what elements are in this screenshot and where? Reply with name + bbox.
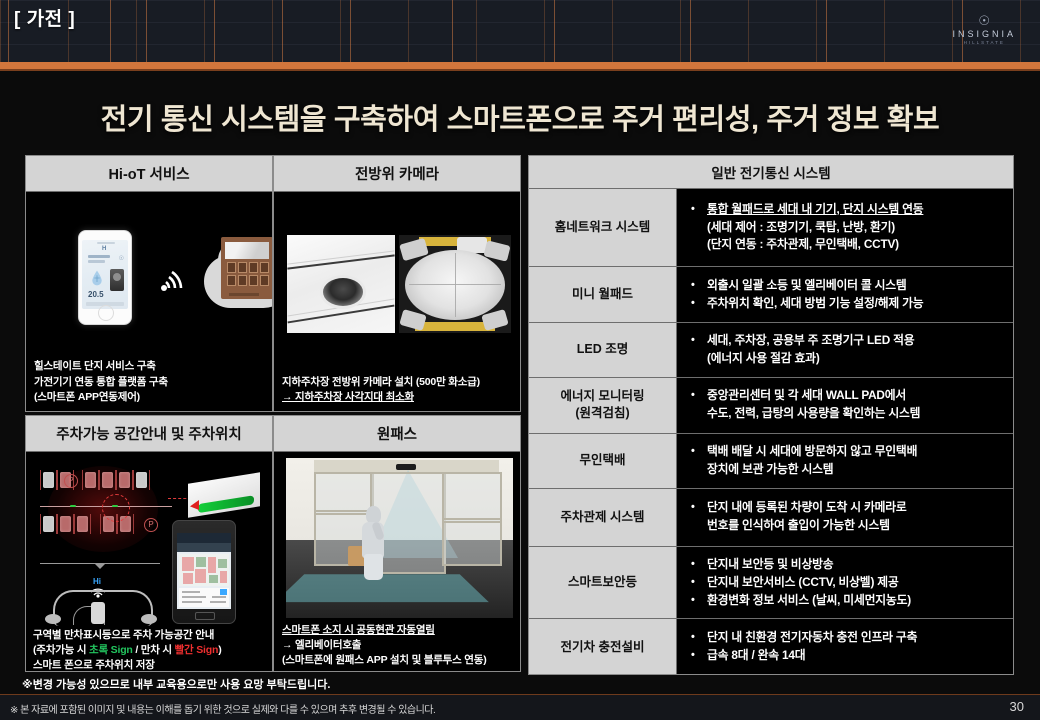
bullet-text-underlined: 통합 월패드로 세대 내 기기, 단지 시스템 연동 xyxy=(707,201,1003,219)
panel-hi-ot: Hi-oT 서비스 H ☉ 20.5 xyxy=(25,155,273,412)
caption-line: 지하주차장 전방위 카메라 설치 (500만 화소급) xyxy=(282,375,480,390)
bullet-icon: • xyxy=(691,277,707,295)
row-category: 홈네트워크 시스템 xyxy=(529,189,677,266)
bullet-icon: • xyxy=(691,647,707,665)
sub-line: 수도, 전력, 급탕의 사용량을 확인하는 시스템 xyxy=(691,405,1003,423)
category-label: [ 가전 ] xyxy=(14,4,75,31)
panel-body-camera: 지하주차장 전방위 카메라 설치 (500만 화소급) → 지하주차장 사각지대… xyxy=(274,192,520,411)
bullet-text: 세대, 주차장, 공용부 주 조명기구 LED 적용 xyxy=(707,332,1003,350)
bullet-icon: • xyxy=(691,629,707,647)
caption-line: 힐스테이트 단지 서비스 구축 xyxy=(34,359,168,374)
bullet-text: 단지내 보안서비스 (CCTV, 비상벨) 제공 xyxy=(707,574,1003,592)
row-description: •통합 월패드로 세대 내 기기, 단지 시스템 연동 (세대 제어 : 조명기… xyxy=(677,189,1013,266)
accent-rule-shadow xyxy=(0,69,1040,71)
auto-door-illustration xyxy=(286,458,513,618)
bullet-icon: • xyxy=(691,332,707,350)
sub-line: 번호를 인식하여 출입이 가능한 시스템 xyxy=(691,517,1003,535)
parking-app-phone xyxy=(172,520,236,624)
page-number: 30 xyxy=(1010,699,1024,714)
logo-subtitle: HILLSTATE xyxy=(952,41,1016,46)
bullet-icon: • xyxy=(691,295,707,313)
top-bar: [ 가전 ] ☉ INSIGNIA HILLSTATE xyxy=(0,0,1040,62)
row-category: 미니 월패드 xyxy=(529,267,677,322)
table-header: 일반 전기통신 시스템 xyxy=(529,156,1013,189)
green-sign-text: 초록 Sign xyxy=(89,644,133,656)
caption-line-colored: (주차가능 시 초록 Sign / 만차 시 빨간 Sign) xyxy=(33,643,221,658)
bullet-icon: • xyxy=(691,499,707,517)
row-description: •단지 내에 등록된 차량이 도착 시 카메라로 번호를 인식하여 출입이 가능… xyxy=(677,489,1013,546)
row-category-sub: (원격검침) xyxy=(575,405,629,422)
bullet-text: 주차위치 확인, 세대 방범 기능 설정/해제 가능 xyxy=(707,295,1003,313)
panel-header-hi-ot: Hi-oT 서비스 xyxy=(26,156,272,192)
bullet-text: 단지내 보안등 및 비상방송 xyxy=(707,556,1003,574)
brand-logo: ☉ INSIGNIA HILLSTATE xyxy=(952,14,1016,46)
table-row: LED 조명 •세대, 주차장, 공용부 주 조명기구 LED 적용 (에너지 … xyxy=(529,323,1013,378)
row-category-main: 에너지 모니터링 xyxy=(561,388,645,405)
bullet-icon: • xyxy=(691,592,707,610)
table-row: 스마트보안등 •단지내 보안등 및 비상방송 •단지내 보안서비스 (CCTV,… xyxy=(529,547,1013,620)
caption-line-underlined: 스마트폰 소지 시 공동현관 자동열림 xyxy=(282,623,487,638)
caption-onepass: 스마트폰 소지 시 공동현관 자동열림 → 엘리베이터호출 (스마트폰에 원패스… xyxy=(282,623,487,669)
row-category: 전기차 충전설비 xyxy=(529,619,677,674)
table-row: 무인택배 •택배 배달 시 세대에 방문하지 않고 무인택배 장치에 보관 가능… xyxy=(529,434,1013,489)
bullet-text: 단지 내에 등록된 차량이 도착 시 카메라로 xyxy=(707,499,1003,517)
table-row: 주차관제 시스템 •단지 내에 등록된 차량이 도착 시 카메라로 번호를 인식… xyxy=(529,489,1013,547)
ceiling-camera-photo xyxy=(287,235,395,333)
sub-line: (에너지 사용 절감 효과) xyxy=(691,350,1003,368)
sub-line: (세대 제어 : 조명기기, 쿡탑, 난방, 환기) xyxy=(691,219,1003,237)
caption-line: → 엘리베이터호출 xyxy=(282,638,487,653)
caption-line: 스마트 폰으로 주차위치 저장 xyxy=(33,658,221,673)
caption-line: (스마트폰에 원패스 APP 설치 및 블루투스 연동) xyxy=(282,653,487,668)
smartphone-illustration: H ☉ 20.5 xyxy=(78,230,132,325)
row-description: •택배 배달 시 세대에 방문하지 않고 무인택배 장치에 보관 가능한 시스템 xyxy=(677,434,1013,488)
panel-header-parking: 주차가능 공간안내 및 주차위치 xyxy=(26,416,272,452)
row-description: •외출시 일괄 소등 및 엘리베이터 콜 시스템 •주차위치 확인, 세대 방범… xyxy=(677,267,1013,322)
bullet-text: 외출시 일괄 소등 및 엘리베이터 콜 시스템 xyxy=(707,277,1003,295)
sub-line: (단지 연동 : 주차관제, 무인택배, CCTV) xyxy=(691,236,1003,254)
sub-line: 장치에 보관 가능한 시스템 xyxy=(691,461,1003,479)
building-icon xyxy=(221,237,272,299)
panel-header-onepass: 원패스 xyxy=(274,416,520,452)
caption-line: 구역별 만차표시등으로 주차 가능공간 안내 xyxy=(33,628,221,643)
topbar-grid-pattern xyxy=(0,0,1040,62)
hi-label: Hi xyxy=(93,577,101,586)
caption-hi-ot: 힐스테이트 단지 서비스 구축 가전기기 연동 통합 플랫폼 구축 (스마트폰 … xyxy=(34,359,168,405)
wifi-signal-icon xyxy=(159,269,185,295)
accent-rule xyxy=(0,62,1040,69)
row-description: •세대, 주차장, 공용부 주 조명기구 LED 적용 (에너지 사용 절감 효… xyxy=(677,323,1013,377)
caption-line: 가전기기 연동 통합 플랫폼 구축 xyxy=(34,375,168,390)
page-title: 전기 통신 시스템을 구축하여 스마트폰으로 주거 편리성, 주거 정보 확보 xyxy=(0,96,1040,138)
bullet-text: 택배 배달 시 세대에 방문하지 않고 무인택배 xyxy=(707,443,1003,461)
panel-header-camera: 전방위 카메라 xyxy=(274,156,520,192)
system-table: 일반 전기통신 시스템 홈네트워크 시스템 •통합 월패드로 세대 내 기기, … xyxy=(528,155,1014,675)
panel-body-hi-ot: H ☉ 20.5 xyxy=(26,192,272,411)
divider-arrow xyxy=(40,563,160,564)
table-row: 미니 월패드 •외출시 일괄 소등 및 엘리베이터 콜 시스템 •주차위치 확인… xyxy=(529,267,1013,323)
table-row: 홈네트워크 시스템 •통합 월패드로 세대 내 기기, 단지 시스템 연동 (세… xyxy=(529,189,1013,267)
fisheye-view-photo xyxy=(399,235,511,333)
row-category: 주차관제 시스템 xyxy=(529,489,677,546)
row-description: •단지 내 친환경 전기자동차 충전 인프라 구축 •급속 8대 / 완속 14… xyxy=(677,619,1013,674)
humidity-drop-icon xyxy=(90,270,104,286)
parking-map-illustration: P P xyxy=(40,470,172,548)
bullet-icon: • xyxy=(691,574,707,592)
red-sign-text: 빨간 Sign xyxy=(175,644,219,656)
row-description: •단지내 보안등 및 비상방송 •단지내 보안서비스 (CCTV, 비상벨) 제… xyxy=(677,547,1013,619)
caption-line: (스마트폰 APP연동제어) xyxy=(34,390,168,405)
slide-root: [ 가전 ] ☉ INSIGNIA HILLSTATE 전기 통신 시스템을 구… xyxy=(0,0,1040,720)
logo-name: INSIGNIA xyxy=(952,30,1016,39)
person-figure xyxy=(360,506,388,578)
bullet-icon: • xyxy=(691,443,707,461)
row-description: •중앙관리센터 및 각 세대 WALL PAD에서 수도, 전력, 급탕의 사용… xyxy=(677,378,1013,433)
bullet-icon: • xyxy=(691,556,707,574)
row-category: LED 조명 xyxy=(529,323,677,377)
bullet-text: 중앙관리센터 및 각 세대 WALL PAD에서 xyxy=(707,387,1003,405)
note-change-warning: ※변경 가능성 있으므로 내부 교육용으로만 사용 요망 부탁드립니다. xyxy=(22,676,330,692)
logo-emblem-icon: ☉ xyxy=(952,14,1016,27)
panel-camera: 전방위 카메라 지하주차장 전방위 xyxy=(273,155,521,412)
bullet-text: 단지 내 친환경 전기자동차 충전 인프라 구축 xyxy=(707,629,1003,647)
caption-parking: 구역별 만차표시등으로 주차 가능공간 안내 (주차가능 시 초록 Sign /… xyxy=(33,628,221,674)
temperature-value: 20.5 xyxy=(88,290,104,299)
floor-mat-sensor-zone xyxy=(286,574,489,602)
car-dashboard-illustration: Hi xyxy=(45,580,157,628)
caption-camera: 지하주차장 전방위 카메라 설치 (500만 화소급) → 지하주차장 사각지대… xyxy=(282,375,480,405)
dome-camera-icon xyxy=(320,275,366,309)
table-row: 에너지 모니터링 (원격검침) •중앙관리센터 및 각 세대 WALL PAD에… xyxy=(529,378,1013,434)
bullet-text: 급속 8대 / 완속 14대 xyxy=(707,647,1003,665)
row-category: 에너지 모니터링 (원격검침) xyxy=(529,378,677,433)
row-category: 무인택배 xyxy=(529,434,677,488)
bullet-icon: • xyxy=(691,387,707,405)
table-row: 전기차 충전설비 •단지 내 친환경 전기자동차 충전 인프라 구축 •급속 8… xyxy=(529,619,1013,674)
row-category: 스마트보안등 xyxy=(529,547,677,619)
bullet-text: 환경변화 정보 서비스 (날씨, 미세먼지농도) xyxy=(707,592,1003,610)
bullet-icon: • xyxy=(691,201,707,219)
caption-line-underlined: → 지하주차장 사각지대 최소화 xyxy=(282,390,480,405)
note-disclaimer: ※ 본 자료에 포함된 이미지 및 내용는 이해를 돕기 위한 것으로 실제와 … xyxy=(10,701,435,716)
app-logo-icon: H xyxy=(102,246,106,252)
